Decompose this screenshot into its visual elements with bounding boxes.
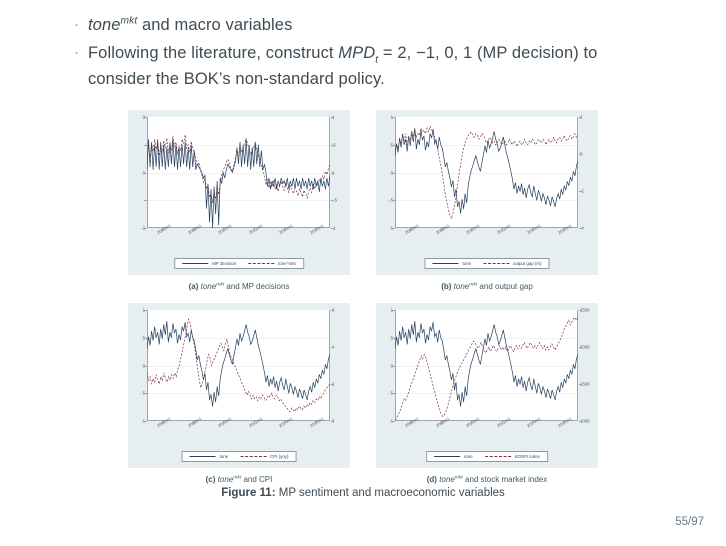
series-layer xyxy=(395,117,578,228)
legend-label: tone xyxy=(462,261,471,266)
page-number: 55/97 xyxy=(675,516,704,528)
y-tick-right xyxy=(331,117,334,118)
series-layer xyxy=(395,310,578,421)
legend-swatch xyxy=(240,456,266,457)
y-tick-right xyxy=(579,310,582,311)
x-tick xyxy=(223,228,224,231)
caption-c-prefix: (c) xyxy=(206,475,216,484)
caption-b-prefix: (b) xyxy=(441,282,451,291)
x-tick xyxy=(254,228,255,231)
legend-swatch xyxy=(434,456,460,457)
series-line-tone-mkt xyxy=(147,135,330,203)
figure-cell-b: 1.50-.5-1 20-2-4 2006m12008m12010m12012m… xyxy=(376,110,598,293)
legend-swatch xyxy=(190,456,216,457)
figure-label: Figure 11: xyxy=(221,487,275,499)
y-tick-labels-left: 1.50-.5-1 xyxy=(128,303,145,468)
x-tick xyxy=(502,228,503,231)
legend-label: tone xyxy=(220,454,229,459)
x-tick xyxy=(315,421,316,424)
x-tick-labels: 2006m12008m12010m12012m12014m12016m1 xyxy=(395,231,578,245)
x-tick xyxy=(254,421,255,424)
caption-d-term: tone xyxy=(439,475,455,484)
legend-label: tone xyxy=(464,454,473,459)
series-line-tone xyxy=(395,321,578,406)
x-tick xyxy=(441,228,442,231)
legend-label: CPI (yoy) xyxy=(270,454,288,459)
x-tick xyxy=(563,421,564,424)
series-layer xyxy=(147,117,330,228)
y-tick-left xyxy=(144,421,147,422)
legend-item: CPI (yoy) xyxy=(240,454,288,459)
bullet-text-1: tonemkt and macro variables xyxy=(88,12,292,38)
bullet-marker: · xyxy=(74,12,88,38)
bullet-item-1: · tonemkt and macro variables xyxy=(74,12,634,38)
y-tick-right xyxy=(579,384,582,385)
x-tick xyxy=(563,228,564,231)
chart-legend: MP decisiontone^mkt xyxy=(174,258,304,269)
caption-b-rest: and output gap xyxy=(477,282,533,291)
caption-c: (c) tonemkt and CPI xyxy=(128,474,350,486)
y-tick-labels-right: 2500200015001000 xyxy=(580,303,598,468)
x-tick xyxy=(162,421,163,424)
bullet-marker: · xyxy=(74,40,88,66)
legend-swatch xyxy=(485,456,511,457)
legend-swatch xyxy=(248,263,274,264)
y-tick-right xyxy=(579,117,582,118)
x-tick xyxy=(471,228,472,231)
chart-legend: toneCPI (yoy) xyxy=(182,451,297,462)
x-tick xyxy=(441,421,442,424)
legend-item: tone xyxy=(432,261,471,266)
x-tick xyxy=(193,421,194,424)
legend-item: MP decision xyxy=(182,261,236,266)
caption-b-sup: mkt xyxy=(469,282,477,287)
y-tick-left xyxy=(392,228,395,229)
y-tick-labels-right: 6420 xyxy=(332,303,350,468)
x-tick-labels: 2006m12008m12010m12012m12014m12016m1 xyxy=(395,424,578,438)
y-tick-left xyxy=(144,228,147,229)
figure-cell-a: 20-2 1.50-.5-1 2006m12008m12010m12012m12… xyxy=(128,110,350,293)
y-tick-right xyxy=(579,347,582,348)
x-tick xyxy=(193,228,194,231)
chart-panel-a: 20-2 1.50-.5-1 2006m12008m12010m12012m12… xyxy=(128,110,350,275)
caption-b-term: tone xyxy=(454,282,470,291)
figure-cell-c: 1.50-.5-1 6420 2006m12008m12010m12012m12… xyxy=(128,303,350,486)
caption-a: (a) tonemkt and MP decisions xyxy=(128,281,350,293)
y-tick-labels-left: 1.50-.5-1 xyxy=(376,110,393,275)
figure-block: 20-2 1.50-.5-1 2006m12008m12010m12012m12… xyxy=(0,110,726,499)
y-tick-right xyxy=(579,228,582,229)
chart-panel-d: 1.50-.5-1 2500200015001000 2006m12008m12… xyxy=(376,303,598,468)
caption-c-rest: and CPI xyxy=(241,475,272,484)
y-tick-labels-right: 20-2-4 xyxy=(580,110,598,275)
y-tick-right xyxy=(331,347,334,348)
caption-b: (b) tonemkt and output gap xyxy=(376,281,598,293)
x-tick xyxy=(471,421,472,424)
y-tick-right xyxy=(579,154,582,155)
x-tick xyxy=(410,228,411,231)
chart-legend: toneKOSPI index xyxy=(426,451,548,462)
figure-title-text: MP sentiment and macroeconomic variables xyxy=(279,487,505,499)
legend-label: output gap (m) xyxy=(513,261,542,266)
legend-swatch xyxy=(483,263,509,264)
caption-a-prefix: (a) xyxy=(189,282,199,291)
x-tick-labels: 2006m12008m12010m12012m12014m12016m1 xyxy=(147,231,330,245)
caption-a-term: tone xyxy=(201,282,217,291)
caption-a-rest: and MP decisions xyxy=(224,282,289,291)
legend-item: tone xyxy=(190,454,229,459)
y-tick-right xyxy=(331,145,334,146)
chart-panel-c: 1.50-.5-1 6420 2006m12008m12010m12012m12… xyxy=(128,303,350,468)
legend-item: output gap (m) xyxy=(483,261,542,266)
y-tick-right xyxy=(331,310,334,311)
x-tick xyxy=(410,421,411,424)
series-line-tone xyxy=(395,128,578,213)
legend-item: KOSPI index xyxy=(485,454,540,459)
x-tick xyxy=(315,228,316,231)
x-tick xyxy=(284,228,285,231)
legend-item: tone xyxy=(434,454,473,459)
x-tick xyxy=(532,421,533,424)
series-layer xyxy=(147,310,330,421)
x-tick-labels: 2006m12008m12010m12012m12014m12016m1 xyxy=(147,424,330,438)
series-line-mp-decision xyxy=(147,139,330,228)
figure-title: Figure 11: MP sentiment and macroeconomi… xyxy=(0,487,726,499)
legend-swatch xyxy=(182,263,208,264)
y-tick-right xyxy=(331,228,334,229)
caption-d: (d) tonemkt and stock market index xyxy=(376,474,598,486)
bullet-item-2: · Following the literature, construct MP… xyxy=(74,40,634,92)
caption-c-term: tone xyxy=(218,475,234,484)
figure-row-top: 20-2 1.50-.5-1 2006m12008m12010m12012m12… xyxy=(0,110,726,293)
figure-cell-d: 1.50-.5-1 2500200015001000 2006m12008m12… xyxy=(376,303,598,486)
caption-d-prefix: (d) xyxy=(427,475,437,484)
bullet-list: · tonemkt and macro variables · Followin… xyxy=(74,12,634,94)
legend-item: tone^mkt xyxy=(248,261,296,266)
y-tick-labels-right: 1.50-.5-1 xyxy=(332,110,350,275)
y-tick-right xyxy=(331,421,334,422)
series-line-tone xyxy=(147,321,330,406)
caption-d-rest: and stock market index xyxy=(463,475,547,484)
caption-a-sup: mkt xyxy=(216,282,224,287)
x-tick xyxy=(162,228,163,231)
x-tick xyxy=(223,421,224,424)
y-tick-left xyxy=(392,421,395,422)
figure-row-bottom: 1.50-.5-1 6420 2006m12008m12010m12012m12… xyxy=(0,303,726,486)
y-tick-right xyxy=(331,200,334,201)
slide-root: · tonemkt and macro variables · Followin… xyxy=(0,0,726,546)
y-tick-right xyxy=(331,384,334,385)
bullet-text-2: Following the literature, construct MPDt… xyxy=(88,40,634,92)
x-tick xyxy=(502,421,503,424)
chart-panel-b: 1.50-.5-1 20-2-4 2006m12008m12010m12012m… xyxy=(376,110,598,275)
legend-label: tone^mkt xyxy=(278,261,296,266)
caption-d-sup: mkt xyxy=(455,475,463,480)
y-tick-right xyxy=(331,173,334,174)
x-tick xyxy=(284,421,285,424)
y-tick-right xyxy=(579,191,582,192)
legend-label: MP decision xyxy=(212,261,236,266)
y-tick-labels-left: 20-2 xyxy=(128,110,145,275)
chart-legend: toneoutput gap (m) xyxy=(424,258,549,269)
y-tick-right xyxy=(579,421,582,422)
legend-swatch xyxy=(432,263,458,264)
legend-label: KOSPI index xyxy=(515,454,540,459)
x-tick xyxy=(532,228,533,231)
y-tick-labels-left: 1.50-.5-1 xyxy=(376,303,393,468)
